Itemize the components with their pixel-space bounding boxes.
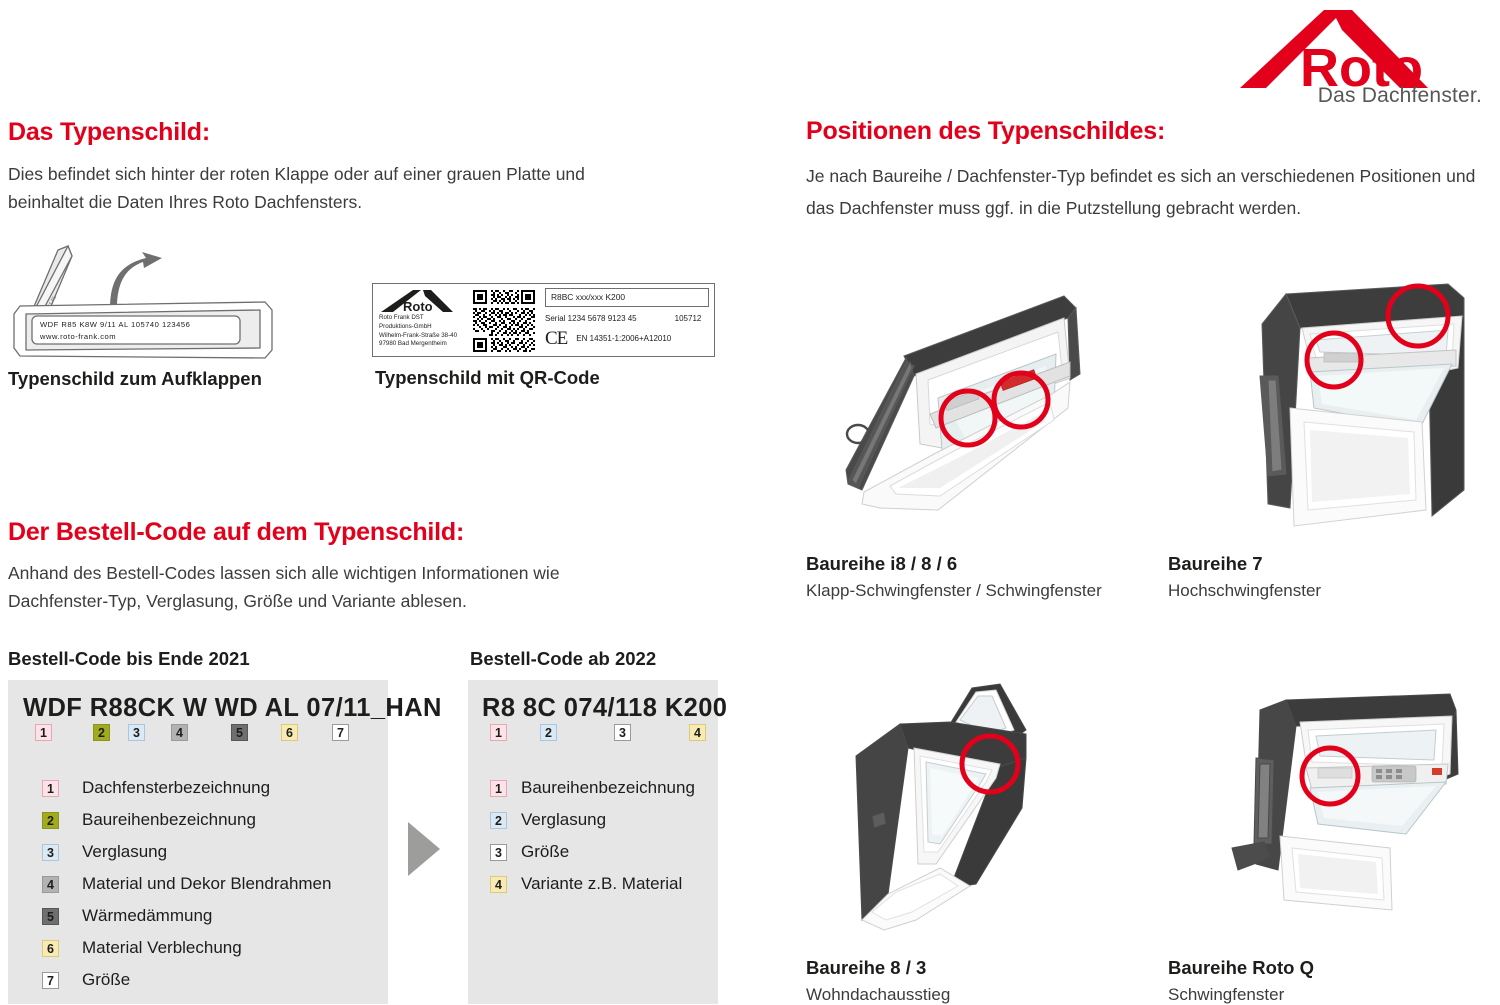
legend-label-3: Verglasung — [82, 842, 167, 862]
badge-1: 1 — [490, 724, 507, 741]
code-string-2021: WDF R88CK W WD AL 07/11_HAN — [23, 694, 442, 723]
legend-badge-6: 6 — [42, 940, 59, 957]
legend-item: 3 Verglasung — [42, 836, 331, 868]
legend-label-1: Baureihenbezeichnung — [521, 778, 695, 798]
legend-badge-4: 4 — [42, 876, 59, 893]
legend-label-4: Variante z.B. Material — [521, 874, 682, 894]
caption-title: Baureihe 8 / 3 — [806, 957, 950, 979]
legend-item: 3 Größe — [490, 836, 695, 868]
label-serial: Serial 1234 5678 9123 45 — [545, 314, 637, 323]
caption-subtitle: Schwingfenster — [1168, 985, 1314, 1005]
caption-baureihe-8-3: Baureihe 8 / 3 Wohndachausstieg — [806, 957, 950, 1005]
legend-badge-4: 4 — [490, 876, 507, 893]
legend-label-5: Wärmedämmung — [82, 906, 212, 926]
flap-label-line1: WDF R85 K8W 9/11 AL 105740 123456 — [40, 320, 190, 329]
badge-7: 7 — [332, 724, 349, 741]
code-string-2022: R8 8C 074/118 K200 — [482, 694, 727, 723]
caption-baureihe-7: Baureihe 7 Hochschwingfenster — [1168, 553, 1321, 601]
heading-typenschild: Das Typenschild: — [8, 118, 648, 147]
legend-badge-3: 3 — [42, 844, 59, 861]
typenschild-flap-illustration: WDF R85 K8W 9/11 AL WDF R85 K8W 9/11 AL … — [10, 238, 278, 363]
caption-subtitle: Klapp-Schwingfenster / Schwingfenster — [806, 581, 1102, 601]
legend-badge-1: 1 — [42, 780, 59, 797]
legend-label-2: Verglasung — [521, 810, 606, 830]
svg-text:Roto: Roto — [403, 299, 433, 314]
bestellcode-2022-box: R8 8C 074/118 K200 1 2 3 4 1 Baureihenbe… — [468, 680, 718, 1004]
window-photo-baureihe-i8-8-6 — [818, 258, 1148, 548]
bestellcode-2021-box: WDF R88CK W WD AL 07/11_HAN 1 2 3 4 5 6 … — [8, 680, 388, 1004]
legend-2022: 1 Baureihenbezeichnung 2 Verglasung 3 Gr… — [490, 772, 695, 900]
text-positionen: Je nach Baureihe / Dachfenster-Typ befin… — [806, 160, 1496, 225]
legend-label-6: Material Verblechung — [82, 938, 242, 958]
legend-item: 4 Material und Dekor Blendrahmen — [42, 868, 331, 900]
caption-title: Baureihe 7 — [1168, 553, 1321, 575]
badge-4: 4 — [689, 724, 706, 741]
section-bestellcode: Der Bestell-Code auf dem Typenschild: An… — [8, 518, 648, 616]
caption-title: Baureihe Roto Q — [1168, 957, 1314, 979]
logo-tagline: Das Dachfenster. — [1318, 84, 1482, 108]
label-address: Roto Frank DST Produktions-GmbH Wilhelm-… — [379, 314, 463, 349]
legend-item: 6 Material Verblechung — [42, 932, 331, 964]
window-photo-baureihe-8-3 — [800, 648, 1130, 940]
badge-5: 5 — [231, 724, 248, 741]
window-photo-baureihe-roto-q — [1160, 648, 1490, 940]
legend-2021: 1 Dachfensterbezeichnung 2 Baureihenbeze… — [42, 772, 331, 996]
qr-code-icon — [473, 290, 535, 352]
heading-positionen: Positionen des Typenschildes: — [806, 117, 1496, 146]
legend-label-4: Material und Dekor Blendrahmen — [82, 874, 331, 894]
badge-1: 1 — [35, 724, 52, 741]
caption-baureihe-i8-8-6: Baureihe i8 / 8 / 6 Klapp-Schwingfenster… — [806, 553, 1102, 601]
caption-typenschild-flap: Typenschild zum Aufklappen — [8, 368, 262, 390]
flap-label-line2: www.roto-frank.com — [39, 332, 116, 341]
label-norm: EN 14351-1:2006+A12010 — [576, 334, 671, 343]
legend-item: 1 Baureihenbezeichnung — [490, 772, 695, 804]
caption-baureihe-roto-q: Baureihe Roto Q Schwingfenster — [1168, 957, 1314, 1005]
legend-label-7: Größe — [82, 970, 130, 990]
heading-bestellcode: Der Bestell-Code auf dem Typenschild: — [8, 518, 648, 547]
badge-2: 2 — [93, 724, 110, 741]
label-norm-row: CE EN 14351-1:2006+A12010 — [545, 329, 709, 348]
legend-badge-3: 3 — [490, 844, 507, 861]
text-typenschild: Dies befindet sich hinter der roten Klap… — [8, 160, 648, 217]
legend-item: 1 Dachfensterbezeichnung — [42, 772, 331, 804]
badge-3: 3 — [128, 724, 145, 741]
legend-badge-2: 2 — [42, 812, 59, 829]
label-order-code: R8BC xxx/xxx K200 — [545, 288, 709, 307]
caption-subtitle: Wohndachausstieg — [806, 985, 950, 1005]
label-part-number: 105712 — [675, 314, 702, 323]
arrow-right-icon — [408, 822, 440, 876]
roto-logo: Roto Das Dachfenster. — [1232, 6, 1482, 111]
legend-badge-7: 7 — [42, 972, 59, 989]
typenschild-qr-label: Roto Roto Frank DST Produktions-GmbH Wil… — [372, 283, 715, 357]
badge-2: 2 — [540, 724, 557, 741]
legend-item: 5 Wärmedämmung — [42, 900, 331, 932]
legend-label-3: Größe — [521, 842, 569, 862]
caption-title: Baureihe i8 / 8 / 6 — [806, 553, 1102, 575]
ce-mark-icon: CE — [545, 329, 567, 348]
section-positionen: Positionen des Typenschildes: Je nach Ba… — [806, 117, 1496, 225]
badge-3: 3 — [614, 724, 631, 741]
legend-badge-2: 2 — [490, 812, 507, 829]
section-typenschild: Das Typenschild: Dies befindet sich hint… — [8, 118, 648, 217]
legend-item: 7 Größe — [42, 964, 331, 996]
caption-typenschild-qr: Typenschild mit QR-Code — [375, 367, 600, 389]
page-root: Roto Das Dachfenster. Das Typenschild: D… — [0, 0, 1500, 1004]
legend-label-1: Dachfensterbezeichnung — [82, 778, 270, 798]
legend-item: 2 Baureihenbezeichnung — [42, 804, 331, 836]
window-photo-baureihe-7 — [1182, 258, 1492, 548]
legend-badge-5: 5 — [42, 908, 59, 925]
badge-6: 6 — [281, 724, 298, 741]
legend-item: 4 Variante z.B. Material — [490, 868, 695, 900]
title-bestellcode-2022: Bestell-Code ab 2022 — [470, 648, 656, 670]
legend-label-2: Baureihenbezeichnung — [82, 810, 256, 830]
title-bestellcode-2021: Bestell-Code bis Ende 2021 — [8, 648, 250, 670]
caption-subtitle: Hochschwingfenster — [1168, 581, 1321, 601]
legend-item: 2 Verglasung — [490, 804, 695, 836]
badge-4: 4 — [171, 724, 188, 741]
label-serial-row: Serial 1234 5678 9123 45 105712 — [545, 314, 709, 323]
legend-badge-1: 1 — [490, 780, 507, 797]
text-bestellcode: Anhand des Bestell-Codes lassen sich all… — [8, 559, 648, 616]
